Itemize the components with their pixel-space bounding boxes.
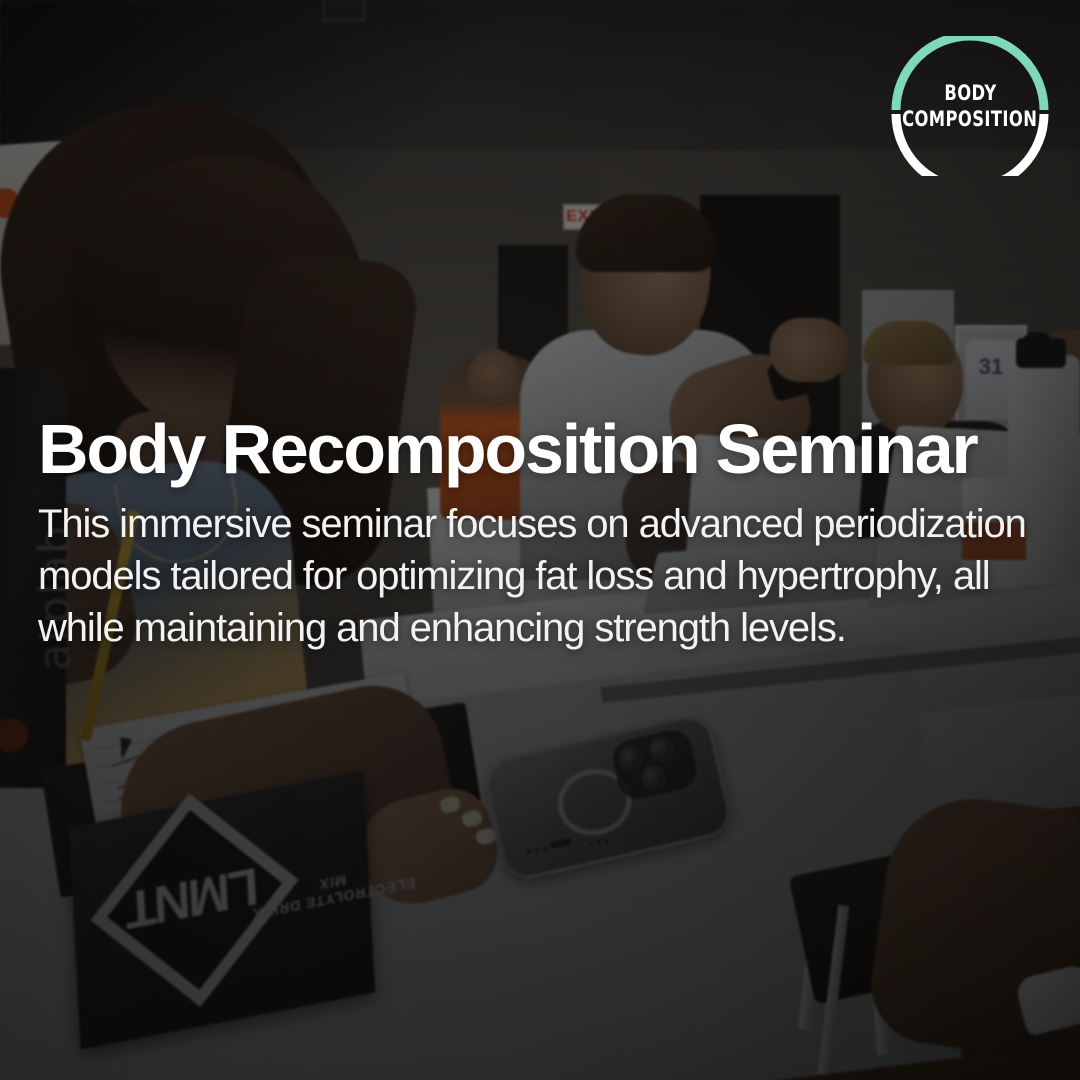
description-text: This immersive seminar focuses on advanc… <box>38 498 1038 654</box>
body-composition-logo[interactable]: BODY COMPOSITION <box>886 36 1074 176</box>
page-title: Body Recomposition Seminar <box>38 414 1058 484</box>
logo-arc-top <box>896 36 1044 110</box>
logo-arc-bottom <box>896 114 1044 176</box>
seminar-promo-card: atp EXIT 31 <box>0 0 1080 1080</box>
copy-block: Body Recomposition Seminar This immersiv… <box>38 414 1058 654</box>
